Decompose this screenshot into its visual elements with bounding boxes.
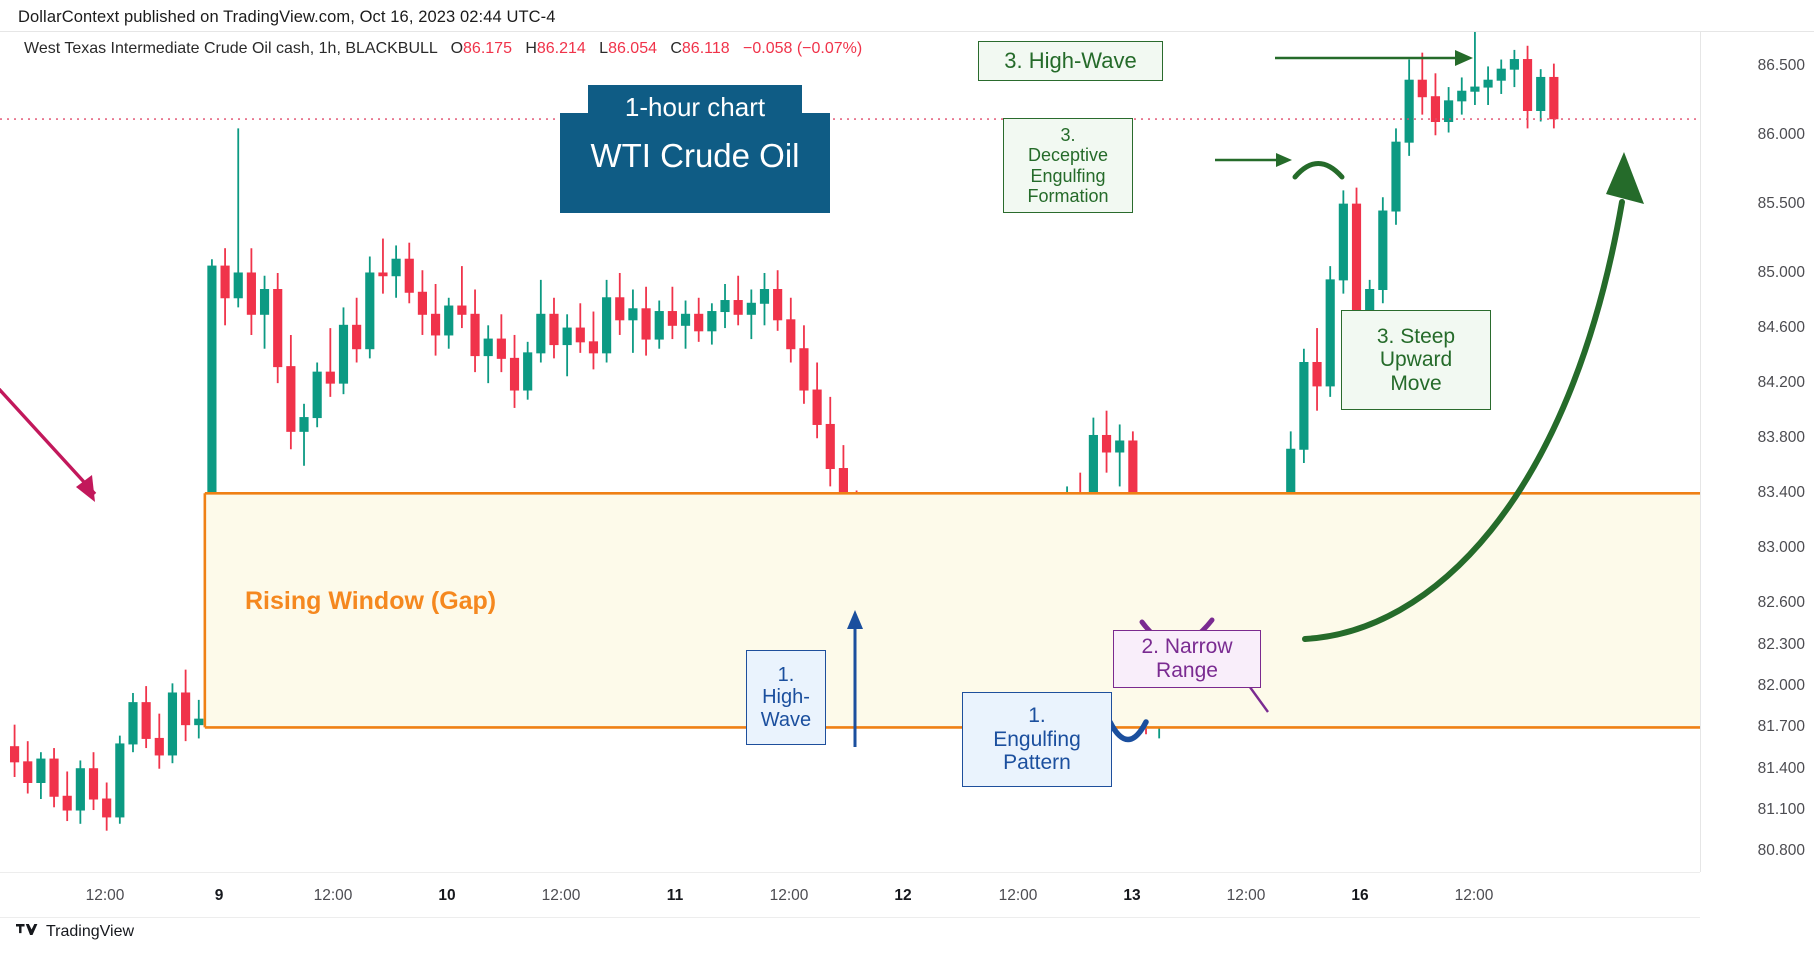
annotation-line: 3. (1060, 125, 1075, 145)
annotation-line: Engulfing (1030, 166, 1105, 186)
annotation-line: Move (1390, 372, 1441, 396)
title-card: 1-hour chart WTI Crude Oil (560, 85, 830, 213)
price-axis-tick: 81.400 (1758, 760, 1805, 778)
price-axis-tick: 81.700 (1758, 718, 1805, 736)
price-axis-tick: 83.800 (1758, 429, 1805, 447)
tradingview-brand-label: TradingView (46, 923, 134, 941)
price-axis-tick: 82.000 (1758, 677, 1805, 695)
annotation-line: 1. (1028, 704, 1046, 728)
annotation-line: High- (762, 686, 810, 708)
annotation-line: Upward (1380, 348, 1452, 372)
annotation-overlay (0, 32, 1700, 872)
time-axis-tick: 9 (215, 887, 224, 905)
annotation-line: Range (1156, 659, 1218, 683)
price-axis-tick: 84.200 (1758, 374, 1805, 392)
price-axis-tick: 82.300 (1758, 636, 1805, 654)
annotation-line: 3. High-Wave (1004, 49, 1136, 74)
price-axis-tick: 86.000 (1758, 126, 1805, 144)
annotation-line: Engulfing (993, 728, 1081, 752)
chart-screenshot: DollarContext published on TradingView.c… (0, 0, 1814, 953)
time-axis-tick: 10 (438, 887, 455, 905)
annotation-line: Formation (1027, 186, 1108, 206)
annotation-deceptive-engulfing-3: 3.DeceptiveEngulfingFormation (1003, 118, 1133, 213)
price-axis-tick: 84.600 (1758, 319, 1805, 337)
time-axis-tick: 12:00 (86, 887, 125, 905)
time-axis-tick: 13 (1123, 887, 1140, 905)
time-axis-tick: 11 (667, 887, 683, 905)
rising-window-label: Rising Window (Gap) (245, 587, 496, 616)
time-axis-tick: 12:00 (999, 887, 1038, 905)
time-axis-tick: 12:00 (770, 887, 809, 905)
price-axis-tick: 86.500 (1758, 57, 1805, 75)
price-axis-tick: 85.500 (1758, 195, 1805, 213)
price-axis[interactable]: 86.50086.00085.50085.00084.60084.20083.8… (1700, 32, 1814, 872)
title-card-subtitle: 1-hour chart (560, 92, 830, 123)
annotation-line: 2. Narrow (1141, 635, 1232, 659)
time-axis-tick: 12:00 (314, 887, 353, 905)
time-axis-tick: 12:00 (1455, 887, 1494, 905)
price-axis-tick: 83.400 (1758, 484, 1805, 502)
price-axis-tick: 81.100 (1758, 801, 1805, 819)
annotation-narrow-range-2: 2. NarrowRange (1113, 630, 1261, 688)
annotation-steep-upward-move-3: 3. SteepUpwardMove (1341, 310, 1491, 410)
annotation-line: Pattern (1003, 751, 1071, 775)
time-axis-tick: 12 (894, 887, 911, 905)
annotation-line: 3. Steep (1377, 325, 1455, 349)
time-axis-tick: 12:00 (1227, 887, 1266, 905)
price-axis-tick: 83.000 (1758, 539, 1805, 557)
annotation-high-wave-1: 1.High-Wave (746, 650, 826, 745)
annotation-engulfing-pattern-1: 1.EngulfingPattern (962, 692, 1112, 787)
price-axis-tick: 80.800 (1758, 842, 1805, 860)
price-axis-tick: 82.600 (1758, 594, 1805, 612)
title-card-title: WTI Crude Oil (560, 137, 830, 175)
annotation-line: Wave (761, 709, 811, 731)
price-axis-tick: 85.000 (1758, 264, 1805, 282)
time-axis-tick: 12:00 (542, 887, 581, 905)
annotation-line: 1. (778, 664, 795, 686)
tradingview-logo-icon (16, 922, 38, 942)
price-chart-plot[interactable]: Rising Window (Gap) (0, 32, 1700, 872)
publisher-line: DollarContext published on TradingView.c… (18, 8, 556, 27)
time-axis[interactable]: 12:00912:001012:001112:001212:001312:001… (0, 872, 1700, 918)
annotation-line: Deceptive (1028, 145, 1108, 165)
annotation-high-wave-3: 3. High-Wave (978, 41, 1163, 81)
time-axis-tick: 16 (1351, 887, 1368, 905)
tradingview-footer: TradingView (16, 922, 134, 942)
